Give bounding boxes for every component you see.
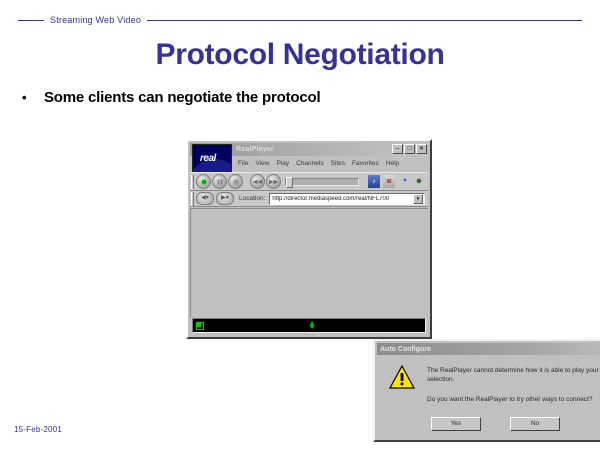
back-button[interactable]: ◀▾ <box>196 192 214 205</box>
globe-icon[interactable]: ◔ <box>398 175 410 188</box>
player-title: RealPlayer <box>236 146 274 153</box>
bullet-text: Some clients can negotiate the protocol <box>44 89 320 106</box>
dialog-message-secondary: Do you want the RealPlayer to try other … <box>427 395 600 404</box>
download-arrow-icon <box>309 322 315 329</box>
toolbar-right-icons: ♪ ≣ ◔ ● <box>368 175 428 188</box>
auto-configure-dialog: Auto Configure ✕ The RealPlayer cannot d… <box>373 339 600 442</box>
minimize-icon[interactable]: – <box>392 144 403 154</box>
stop-flag-icon <box>196 322 204 330</box>
page-title: Protocol Negotiation <box>0 38 600 72</box>
no-button[interactable]: No <box>510 417 560 431</box>
location-grip[interactable] <box>191 192 194 206</box>
player-status-bar <box>192 318 426 333</box>
menu-view[interactable]: View <box>255 160 269 167</box>
player-video-area <box>190 208 428 318</box>
player-menubar: File View Play Channels Sites Favorites … <box>234 157 428 169</box>
header-rule-right <box>147 20 582 21</box>
rewind-button[interactable]: ◀◀ <box>250 174 265 189</box>
slide-header: Streaming Web Video <box>0 12 600 28</box>
location-url-text: http://director.mediaspeed.com/real/NFL7… <box>270 196 413 202</box>
real-logo: real <box>192 144 232 174</box>
menu-channels[interactable]: Channels <box>296 160 323 167</box>
close-icon[interactable]: ✕ <box>416 144 427 154</box>
stop-button[interactable] <box>228 174 243 189</box>
chevron-down-icon[interactable]: ▾ <box>413 194 423 204</box>
menu-file[interactable]: File <box>238 160 248 167</box>
menu-play[interactable]: Play <box>276 160 289 167</box>
player-toolbar: ◀◀ ▶▶ ♪ ≣ ◔ ● <box>190 172 428 191</box>
seek-slider-thumb[interactable] <box>286 177 293 188</box>
realplayer-window: RealPlayer – □ ✕ real File View Play Cha… <box>186 139 432 339</box>
radio-icon[interactable]: ♪ <box>368 175 380 188</box>
maximize-icon[interactable]: □ <box>404 144 415 154</box>
location-label: Location: <box>239 195 265 202</box>
header-label: Streaming Web Video <box>44 15 147 25</box>
dialog-button-row: Yes No <box>375 417 600 431</box>
logo-wordmark: real <box>200 153 216 164</box>
menu-sites[interactable]: Sites <box>331 160 345 167</box>
toolbar-grip[interactable] <box>191 175 194 189</box>
seek-slider[interactable] <box>285 178 359 186</box>
dialog-title: Auto Configure <box>380 346 431 353</box>
play-button[interactable] <box>196 174 211 189</box>
forward-button[interactable]: ▶▾ <box>216 192 234 205</box>
bullet-list: • Some clients can negotiate the protoco… <box>22 89 582 106</box>
menu-favorites[interactable]: Favorites <box>352 160 379 167</box>
yes-button[interactable]: Yes <box>431 417 481 431</box>
window-controls: – □ ✕ <box>392 144 427 154</box>
dialog-message-primary: The RealPlayer cannot determine how it i… <box>427 366 600 384</box>
equalizer-icon[interactable]: ≣ <box>383 175 395 188</box>
fast-forward-button[interactable]: ▶▶ <box>266 174 281 189</box>
warning-icon <box>389 365 415 389</box>
footer-date: 15-Feb-2001 <box>14 425 62 434</box>
menu-help[interactable]: Help <box>386 160 399 167</box>
header-rule-left <box>18 20 44 21</box>
pause-button[interactable] <box>212 174 227 189</box>
list-item: • Some clients can negotiate the protoco… <box>22 89 582 106</box>
bullet-marker-icon: • <box>22 91 44 104</box>
dialog-titlebar: Auto Configure ✕ <box>377 343 600 355</box>
disc-icon[interactable]: ● <box>413 175 425 188</box>
location-input[interactable]: http://director.mediaspeed.com/real/NFL7… <box>269 193 425 205</box>
player-location-bar: ◀▾ ▶▾ Location: http://director.mediaspe… <box>190 191 428 207</box>
